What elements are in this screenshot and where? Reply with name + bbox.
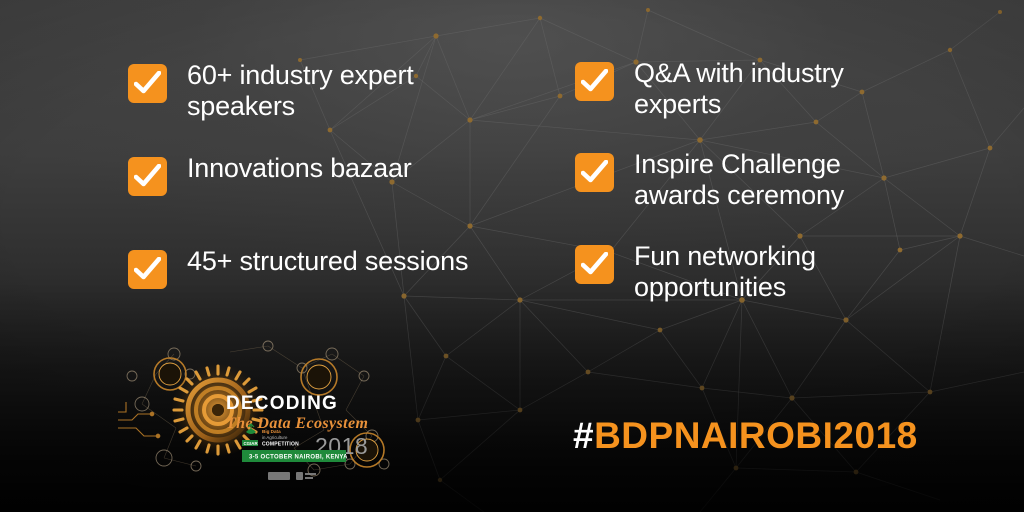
check-icon (575, 245, 614, 284)
event-logo: DECODING The Data Ecosystem 2018 CGIAR B… (118, 332, 408, 490)
list-item: Innovations bazaar (128, 153, 412, 196)
list-item: 45+ structured sessions (128, 246, 468, 289)
check-icon (575, 153, 614, 192)
logo-circuit-trace (118, 402, 160, 438)
hash-symbol: # (573, 415, 594, 456)
list-item: Q&A with industry experts (575, 58, 844, 120)
list-item-label: Fun networking opportunities (634, 241, 816, 303)
benefits-column-right: Q&A with industry experts Inspire Challe… (575, 0, 1005, 330)
logo-subtitle: The Data Ecosystem (226, 415, 368, 432)
benefits-column-left: 60+ industry expert speakers Innovations… (128, 0, 558, 330)
check-icon (128, 250, 167, 289)
hashtag-text: BDPNAIROBI2018 (594, 415, 918, 456)
check-icon (575, 62, 614, 101)
list-item-label: Innovations bazaar (187, 153, 412, 184)
list-item-label: Q&A with industry experts (634, 58, 844, 120)
list-item-label: 45+ structured sessions (187, 246, 468, 277)
logo-competition-line-2: in Agriculture (262, 435, 288, 440)
list-item-label: 60+ industry expert speakers (187, 60, 414, 122)
list-item: 60+ industry expert speakers (128, 60, 414, 122)
poster-canvas: 60+ industry expert speakers Innovations… (0, 0, 1024, 512)
logo-competition-line-3: COMPETITION (262, 442, 299, 448)
list-item-label: Inspire Challenge awards ceremony (634, 149, 844, 211)
list-item: Fun networking opportunities (575, 241, 816, 303)
logo-partner-marks (268, 472, 316, 480)
check-icon (128, 157, 167, 196)
logo-title: DECODING (226, 393, 338, 414)
logo-cgiar-label: CGIAR (244, 441, 259, 446)
event-hashtag: #BDPNAIROBI2018 (573, 415, 918, 457)
check-icon (128, 64, 167, 103)
logo-date-location: 3-5 OCTOBER NAIROBI, KENYA (249, 455, 348, 461)
list-item: Inspire Challenge awards ceremony (575, 149, 844, 211)
logo-competition-line-1: Big Data (262, 429, 281, 434)
